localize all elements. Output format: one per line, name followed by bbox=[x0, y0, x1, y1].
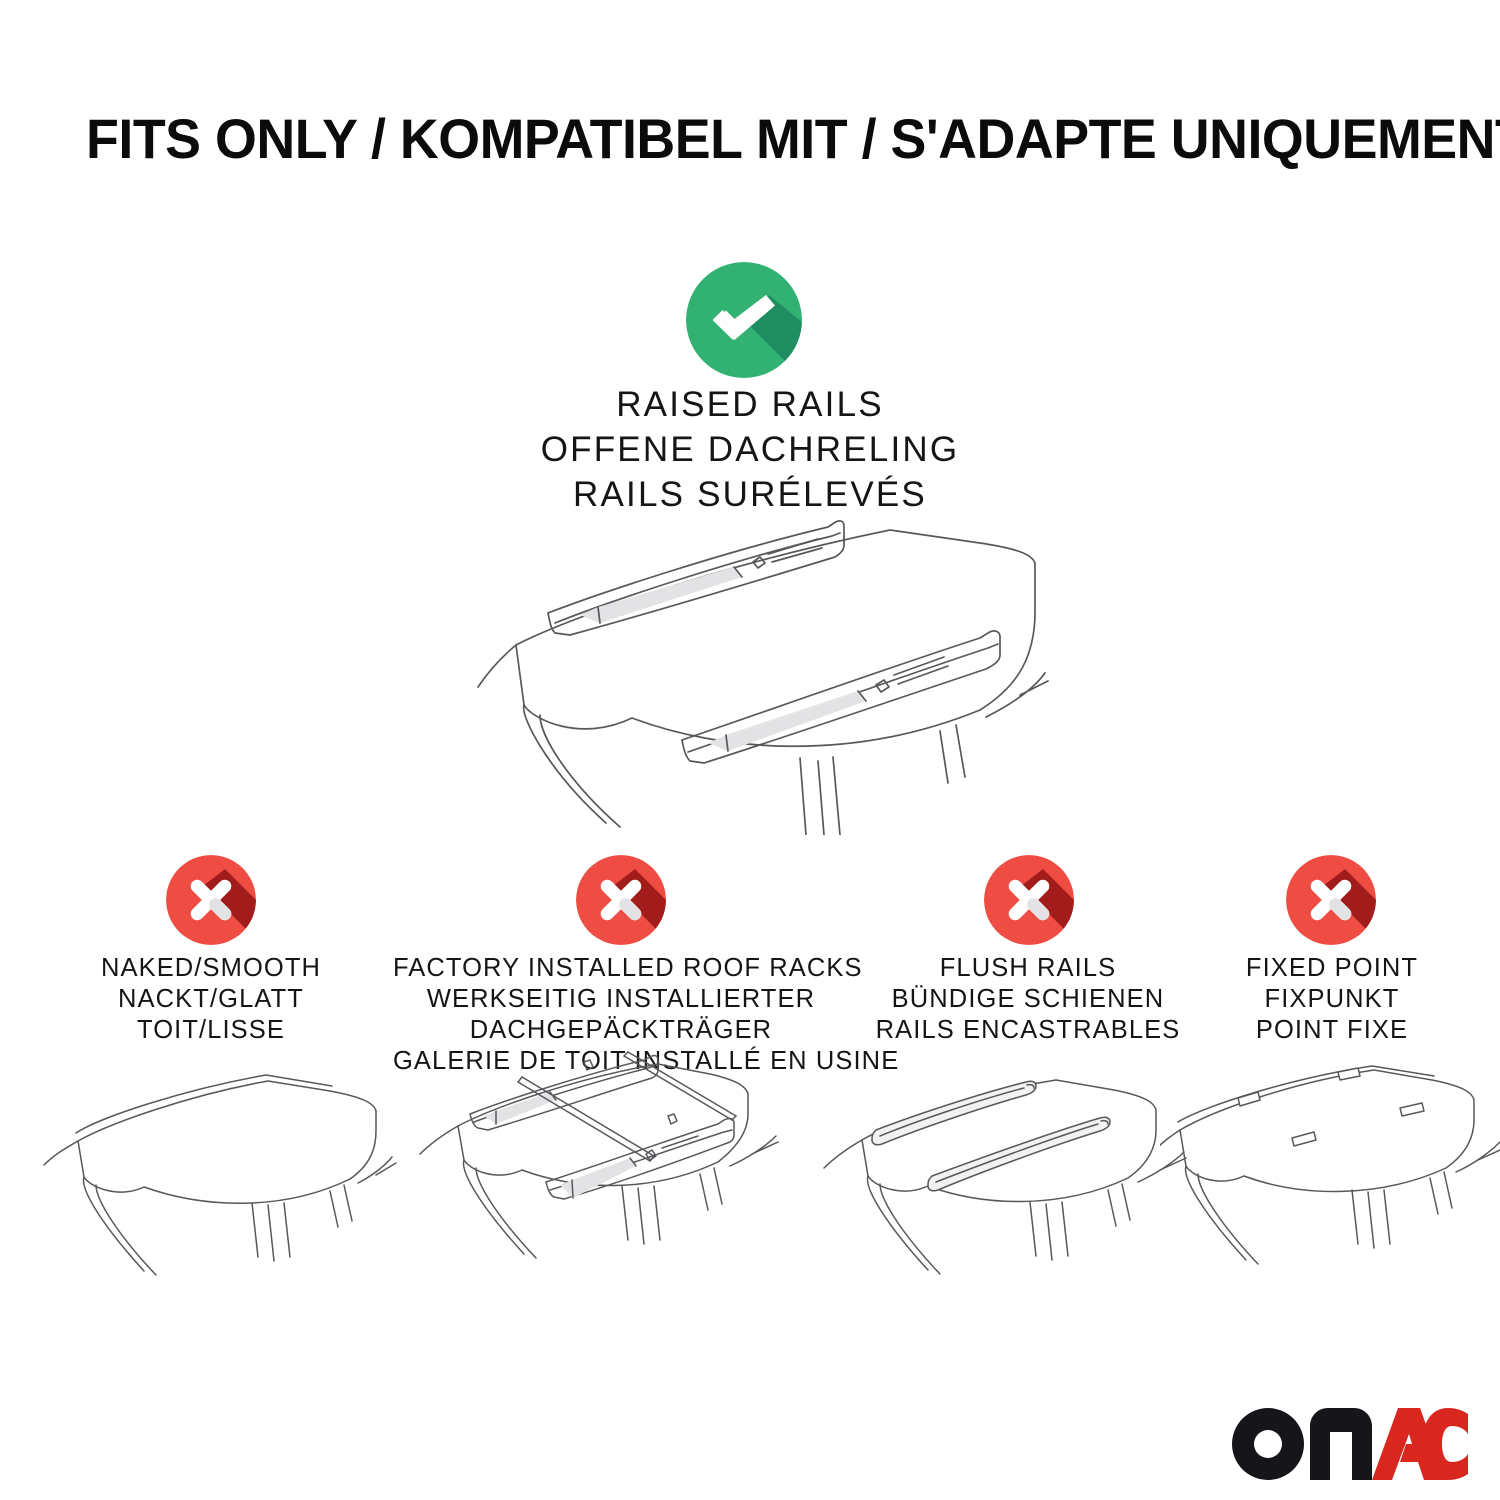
caption-line: FACTORY INSTALLED ROOF RACKS bbox=[393, 953, 849, 984]
car-roof-naked-smooth-illustration bbox=[40, 1055, 410, 1295]
compatible-caption: RAISED RAILS OFFENE DACHRELING RAILS SUR… bbox=[400, 382, 1100, 517]
caption-line: FIXPUNKT bbox=[1196, 984, 1468, 1015]
caption-line: TOIT/LISSE bbox=[35, 1015, 387, 1046]
caption-line: DACHGEPÄCKTRÄGER bbox=[393, 1015, 849, 1046]
x-circle-icon bbox=[576, 855, 666, 945]
caption-line: FIXED POINT bbox=[1196, 953, 1468, 984]
caption-line: RAILS ENCASTRABLES bbox=[855, 1015, 1201, 1046]
car-roof-fixed-point-illustration bbox=[1160, 1058, 1500, 1298]
caption-line: NACKT/GLATT bbox=[35, 984, 387, 1015]
incompatible-caption-flush-rails: FLUSH RAILS BÜNDIGE SCHIENEN RAILS ENCAS… bbox=[855, 953, 1201, 1046]
car-roof-flush-rails-illustration bbox=[820, 1058, 1200, 1302]
car-roof-raised-rails-illustration bbox=[420, 505, 1100, 835]
caption-line: NAKED/SMOOTH bbox=[35, 953, 387, 984]
page-title: FITS ONLY / KOMPATIBEL MIT / S'ADAPTE UN… bbox=[86, 108, 1363, 170]
caption-line: BÜNDIGE SCHIENEN bbox=[855, 984, 1201, 1015]
check-circle-icon bbox=[686, 262, 802, 378]
caption-line: POINT FIXE bbox=[1196, 1015, 1468, 1046]
omac-logo bbox=[1232, 1398, 1468, 1480]
x-circle-icon bbox=[1286, 855, 1376, 945]
x-circle-icon bbox=[166, 855, 256, 945]
compatible-caption-line-de: OFFENE DACHRELING bbox=[400, 427, 1100, 472]
car-roof-factory-roof-racks-illustration bbox=[400, 1048, 800, 1300]
incompatible-caption-naked-smooth: NAKED/SMOOTH NACKT/GLATT TOIT/LISSE bbox=[35, 953, 387, 1046]
caption-line: FLUSH RAILS bbox=[855, 953, 1201, 984]
caption-line: WERKSEITIG INSTALLIERTER bbox=[393, 984, 849, 1015]
compatible-caption-line-en: RAISED RAILS bbox=[400, 382, 1100, 427]
x-circle-icon bbox=[984, 855, 1074, 945]
fitment-infographic: FITS ONLY / KOMPATIBEL MIT / S'ADAPTE UN… bbox=[0, 0, 1500, 1500]
incompatible-caption-fixed-point: FIXED POINT FIXPUNKT POINT FIXE bbox=[1196, 953, 1468, 1046]
